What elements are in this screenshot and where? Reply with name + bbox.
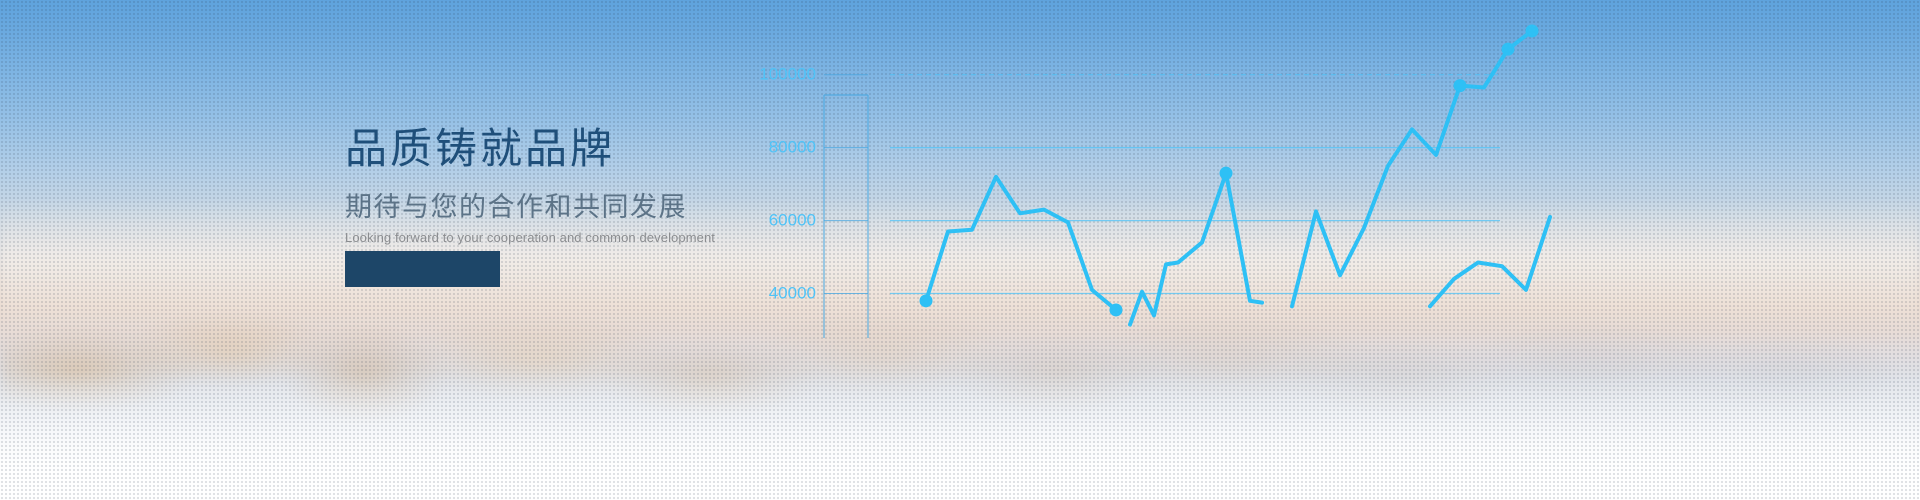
chart-canvas: 400006000080000100000	[760, 0, 1920, 500]
y-axis-tick-label: 80000	[769, 138, 816, 157]
page-title: 品质铸就品牌	[345, 125, 765, 173]
chart-data-point	[1454, 79, 1467, 92]
hero-banner: 品质铸就品牌 期待与您的合作和共同发展 Looking forward to y…	[0, 0, 1920, 500]
chart-line-segment-1	[926, 177, 1116, 310]
banner-copy-block: 品质铸就品牌 期待与您的合作和共同发展 Looking forward to y…	[345, 125, 765, 247]
y-axis-tick-label: 60000	[769, 211, 816, 230]
chart-data-point	[1110, 303, 1123, 316]
chart-line-segment-4	[1430, 217, 1550, 306]
cta-button[interactable]	[345, 251, 500, 287]
banner-subheading: 期待与您的合作和共同发展	[345, 191, 765, 223]
chart-data-point	[920, 294, 933, 307]
chart-data-point	[1220, 167, 1233, 180]
chart-line-segment-2	[1130, 173, 1262, 324]
chart-data-point	[1502, 43, 1515, 56]
line-chart: 400006000080000100000	[760, 0, 1920, 500]
y-axis-tick-label: 40000	[769, 284, 816, 303]
chart-data-point	[1526, 24, 1539, 37]
banner-tagline: Looking forward to your cooperation and …	[345, 230, 765, 247]
y-axis-tick-label: 100000	[760, 65, 816, 84]
